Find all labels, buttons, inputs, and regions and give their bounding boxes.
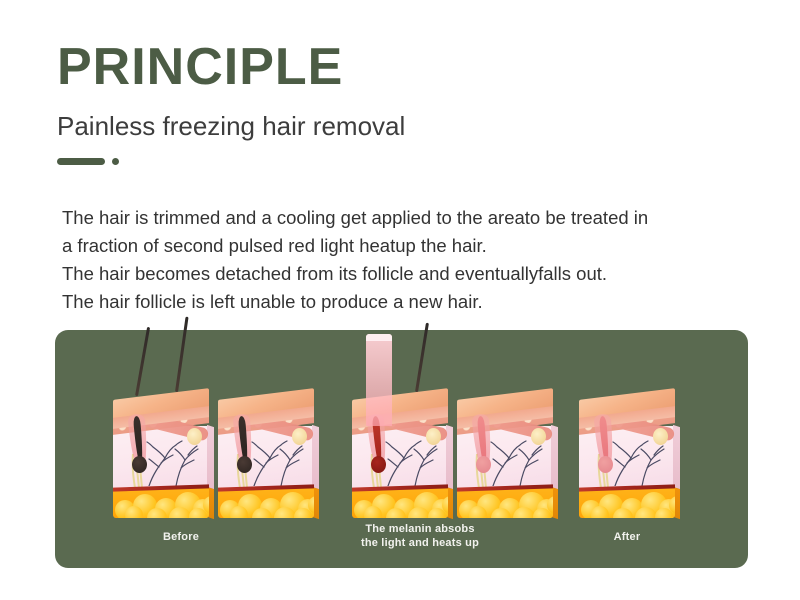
epidermis-surface — [218, 388, 314, 420]
follicle-bulb — [476, 456, 491, 473]
subcutaneous-fat — [457, 488, 553, 518]
capillary-tree — [609, 440, 671, 486]
capillary-tree — [248, 440, 310, 486]
body-line-4: The hair follicle is left unable to prod… — [62, 288, 772, 316]
divider — [57, 158, 405, 165]
page-title: PRINCIPLE — [57, 40, 405, 95]
follicle-bulb — [371, 456, 386, 473]
caption-melanin: The melanin absobs the light and heats u… — [340, 522, 500, 550]
laser-beam — [366, 334, 392, 426]
body-line-2: a fraction of second pulsed red light he… — [62, 232, 772, 260]
skin-block-1 — [113, 368, 209, 518]
header: PRINCIPLE Painless freezing hair removal — [57, 40, 405, 165]
hair-strand — [415, 323, 429, 393]
hair-strand — [135, 327, 150, 396]
skin-block-3 — [352, 368, 448, 518]
skin-block-5 — [579, 368, 675, 518]
caption-melanin-line1: The melanin absobs — [340, 522, 500, 536]
subcutaneous-fat — [579, 488, 675, 518]
subcutaneous-fat — [218, 488, 314, 518]
caption-after: After — [567, 530, 687, 544]
page-subtitle: Painless freezing hair removal — [57, 111, 405, 142]
epidermis-surface — [579, 388, 675, 420]
capillary-tree — [382, 440, 444, 486]
divider-dot — [112, 158, 119, 165]
body-line-1: The hair is trimmed and a cooling get ap… — [62, 204, 772, 232]
hair-strand — [175, 317, 189, 393]
follicle-bulb — [132, 456, 147, 473]
follicle-bulb — [237, 456, 252, 473]
illustration-panel: Before The melanin absobs the light and … — [55, 330, 748, 568]
body-line-3: The hair becomes detached from its folli… — [62, 260, 772, 288]
skin-block-4 — [457, 368, 553, 518]
follicle-bulb — [598, 456, 613, 473]
body-copy: The hair is trimmed and a cooling get ap… — [62, 204, 772, 316]
caption-before: Before — [121, 530, 241, 544]
subcutaneous-fat — [352, 488, 448, 518]
divider-bar — [57, 158, 105, 165]
subcutaneous-fat — [113, 488, 209, 518]
epidermis-surface — [113, 388, 209, 420]
caption-melanin-line2: the light and heats up — [340, 536, 500, 550]
principle-page: PRINCIPLE Painless freezing hair removal… — [0, 0, 800, 600]
epidermis-surface — [457, 388, 553, 420]
capillary-tree — [143, 440, 205, 486]
skin-block-2 — [218, 368, 314, 518]
capillary-tree — [487, 440, 549, 486]
